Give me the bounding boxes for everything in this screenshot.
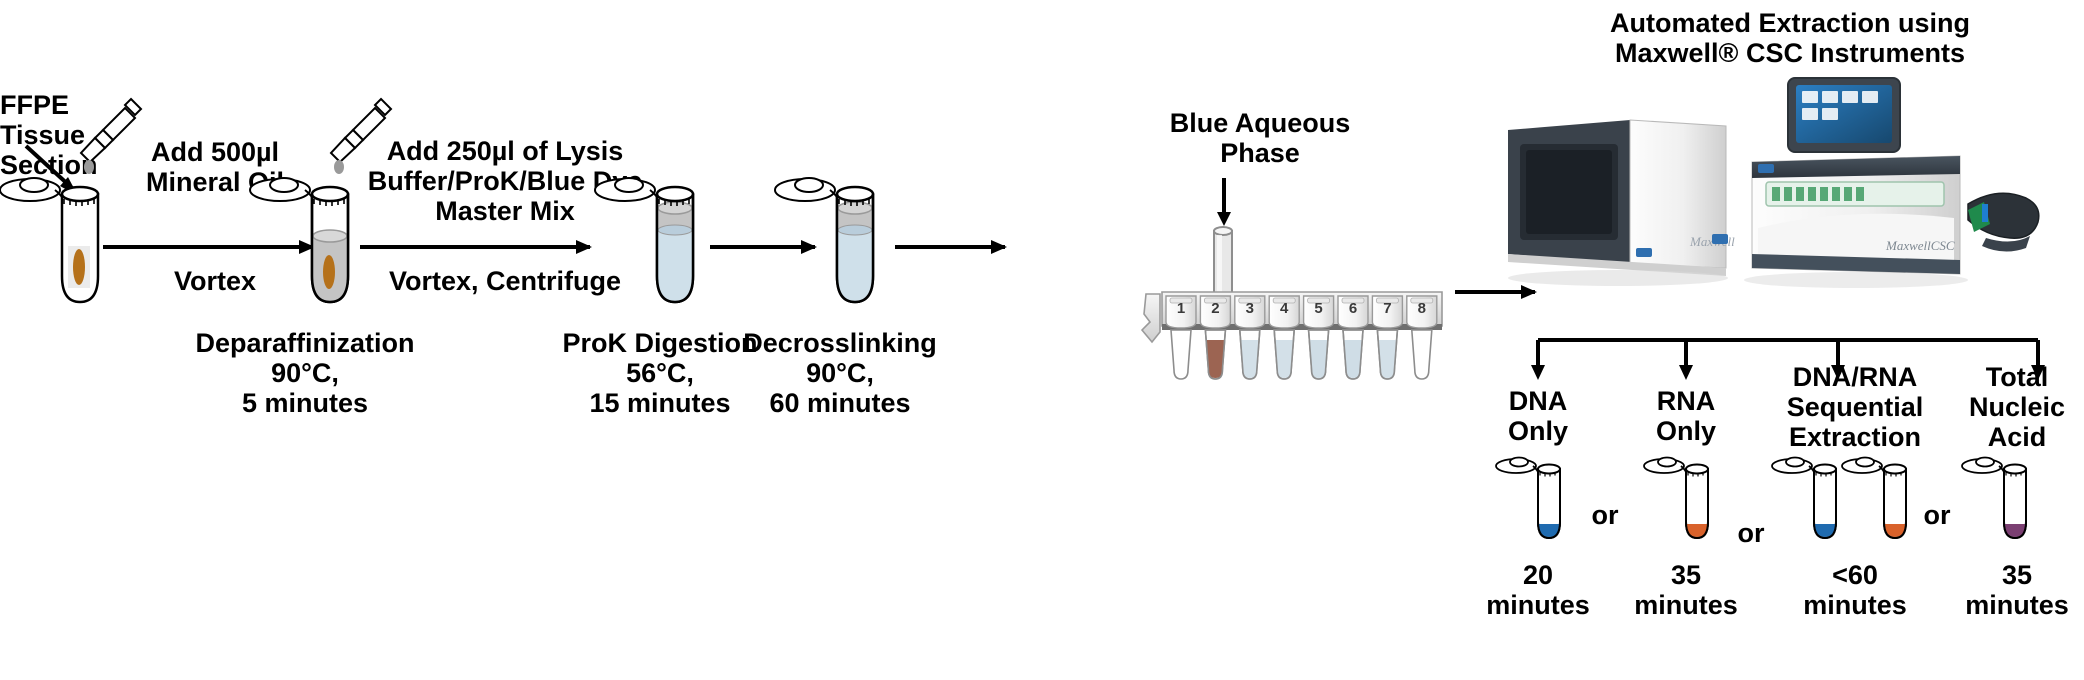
output-separator-or-3: or	[1912, 500, 1962, 530]
cartridge-well-number: 2	[1205, 300, 1225, 317]
output-rna-only-tube	[1644, 452, 1730, 546]
maxwell-instruments-image: Maxwell	[1490, 78, 2050, 298]
step-1-caption: Deparaffinization 90°C, 5 minutes	[190, 328, 420, 419]
tube-deparaffinization	[250, 168, 370, 313]
cartridge-well-number: 8	[1412, 300, 1432, 317]
tube-decrosslinking	[775, 168, 895, 313]
right-section-title: Automated Extraction using Maxwell® CSC …	[1580, 8, 2000, 68]
output-separator-or-1: or	[1580, 500, 1630, 530]
output-dna-rna-seq-tube-rna	[1842, 452, 1928, 546]
arrow-blue-aqueous-transfer	[1222, 178, 1226, 214]
arrow-to-instruments	[1455, 290, 1535, 294]
step-3-caption: Decrosslinking 90°C, 60 minutes	[725, 328, 955, 419]
output-rna-only-time: 35 minutes	[1616, 560, 1756, 620]
cartridge-well-number: 4	[1274, 300, 1294, 317]
svg-text:MaxwellCSC: MaxwellCSC	[1885, 238, 1955, 253]
output-separator-or-2: or	[1726, 518, 1776, 548]
output-dna-only-tube	[1496, 452, 1582, 546]
cartridge-well-number: 3	[1240, 300, 1260, 317]
cartridge-well-number: 5	[1309, 300, 1329, 317]
output-dna-rna-seq-time: <60 minutes	[1760, 560, 1950, 620]
output-dna-only-time: 20 minutes	[1468, 560, 1608, 620]
cartridge-well-numbers: 12345678	[1130, 282, 1450, 392]
arrow-step-2	[360, 245, 590, 249]
output-dna-only-label: DNA Only	[1468, 386, 1608, 446]
cartridge-well-number: 1	[1171, 300, 1191, 317]
cartridge-well-number: 7	[1377, 300, 1397, 317]
output-total-na-label: Total Nucleic Acid	[1952, 362, 2082, 453]
arrow-step-4	[895, 245, 1005, 249]
output-total-na-time: 35 minutes	[1952, 560, 2082, 620]
blue-aqueous-phase-label: Blue Aqueous Phase	[1135, 108, 1385, 168]
output-total-na-tube	[1962, 452, 2048, 546]
output-rna-only-label: RNA Only	[1616, 386, 1756, 446]
cartridge-well-number: 6	[1343, 300, 1363, 317]
output-dna-rna-seq-label: DNA/RNA Sequential Extraction	[1760, 362, 1950, 453]
tube-prok-digestion	[595, 168, 715, 313]
